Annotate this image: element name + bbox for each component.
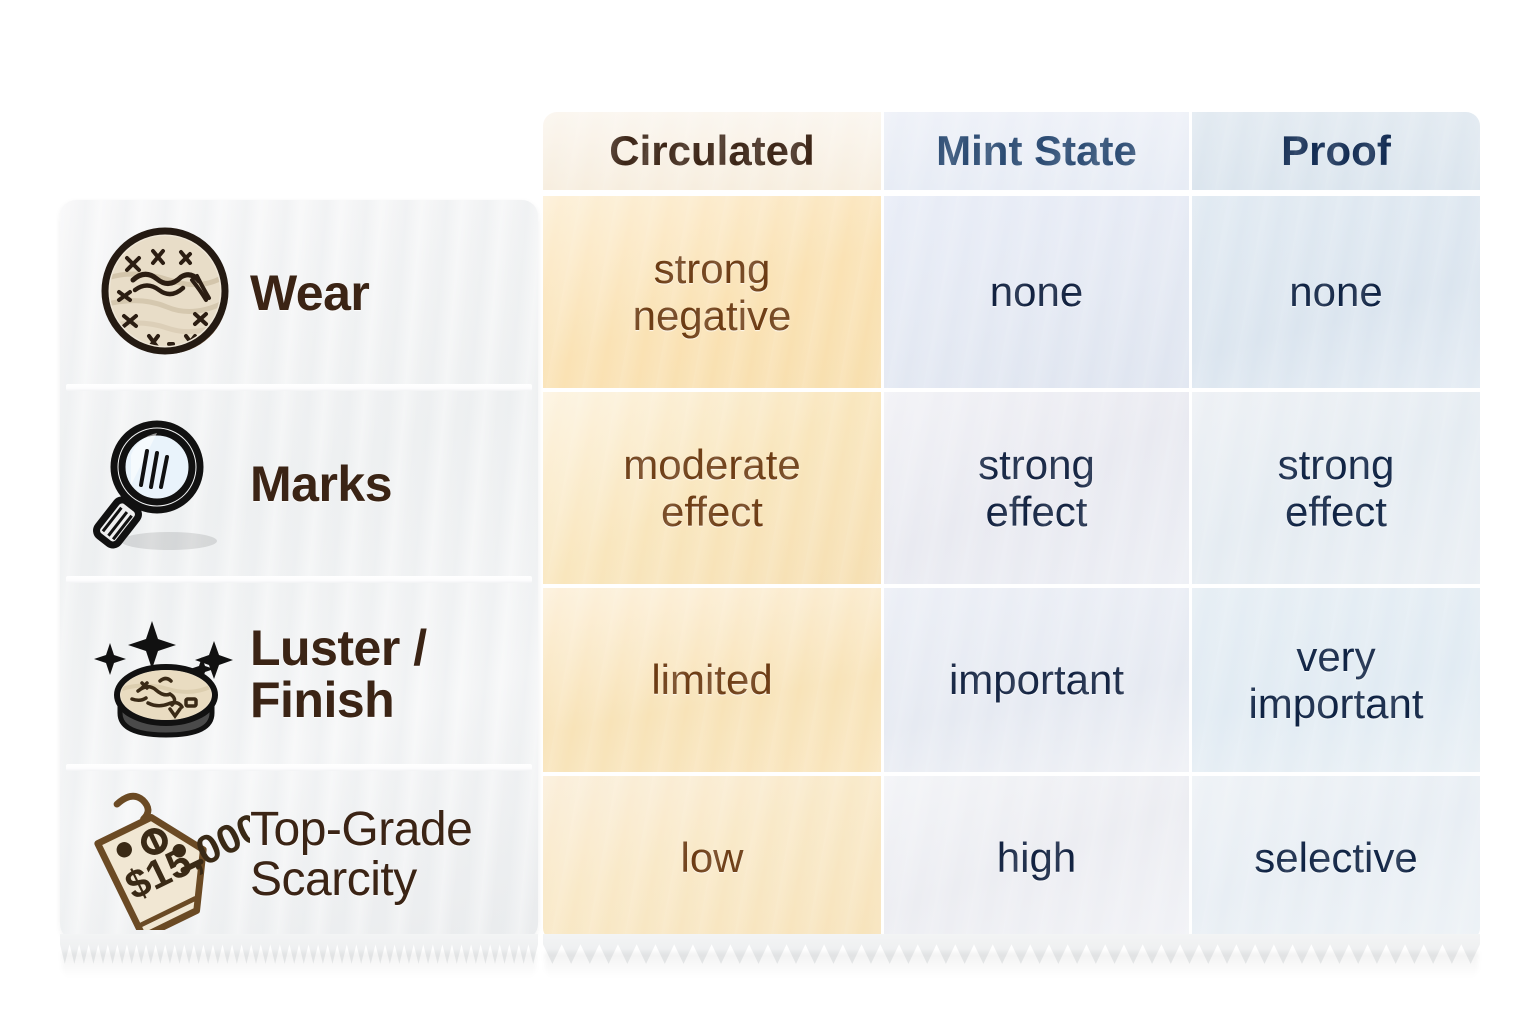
cell-value: strong negative — [633, 245, 792, 339]
table-cell-luster-circulated: limited — [543, 588, 881, 772]
table-cell-wear-circulated: strong negative — [543, 196, 881, 388]
table-cell-luster-mint-state: important — [884, 588, 1189, 772]
cell-value: low — [680, 834, 743, 881]
cell-value: none — [990, 268, 1083, 315]
comparison-table-graphic: Wear — [0, 0, 1536, 1024]
cell-value: moderate effect — [623, 441, 800, 535]
row-label: Wear — [250, 267, 369, 319]
column-header-mint-state[interactable]: Mint State — [884, 112, 1189, 190]
row-label-panel: Wear — [60, 200, 538, 940]
cell-value: strong effect — [1278, 441, 1395, 535]
row-header-luster-finish: Luster / Finish — [60, 582, 538, 766]
row-divider — [66, 764, 532, 771]
cell-value: limited — [651, 656, 772, 703]
cell-value: high — [997, 834, 1076, 881]
row-header-marks: Marks — [60, 390, 538, 578]
worn-coin-icon — [82, 213, 250, 373]
cell-value: selective — [1254, 834, 1417, 881]
paper-shadow-right — [545, 952, 1478, 978]
price-tag-icon: $15,000 — [82, 775, 250, 935]
row-label: Luster / Finish — [250, 622, 427, 726]
cell-value: important — [949, 656, 1124, 703]
row-divider — [66, 576, 532, 583]
table-cell-marks-circulated: moderate effect — [543, 392, 881, 584]
cell-value: strong effect — [978, 441, 1095, 535]
table-cell-scarcity-mint-state: high — [884, 776, 1189, 940]
cell-value: none — [1289, 268, 1382, 315]
table-cell-marks-mint-state: strong effect — [884, 392, 1189, 584]
table-cell-scarcity-proof: selective — [1192, 776, 1480, 940]
row-label: Top-Grade Scarcity — [250, 805, 472, 905]
column-header-circulated[interactable]: Circulated — [543, 112, 881, 190]
cell-value: very important — [1248, 633, 1423, 727]
row-label: Marks — [250, 458, 392, 510]
row-header-wear: Wear — [60, 200, 538, 386]
table-cell-wear-mint-state: none — [884, 196, 1189, 388]
grade-comparison-table: Circulated strong negative moderate effe… — [543, 112, 1480, 940]
column-header-proof[interactable]: Proof — [1192, 112, 1480, 190]
paper-shadow-left — [62, 952, 536, 978]
table-cell-marks-proof: strong effect — [1192, 392, 1480, 584]
table-cell-wear-proof: none — [1192, 196, 1480, 388]
table-cell-luster-proof: very important — [1192, 588, 1480, 772]
shining-coin-icon — [82, 594, 250, 754]
magnifying-glass-icon — [82, 404, 250, 564]
table-cell-scarcity-circulated: low — [543, 776, 881, 940]
row-header-top-grade-scarcity: $15,000 Top-Grade Scarcity — [60, 770, 538, 940]
row-divider — [66, 384, 532, 391]
